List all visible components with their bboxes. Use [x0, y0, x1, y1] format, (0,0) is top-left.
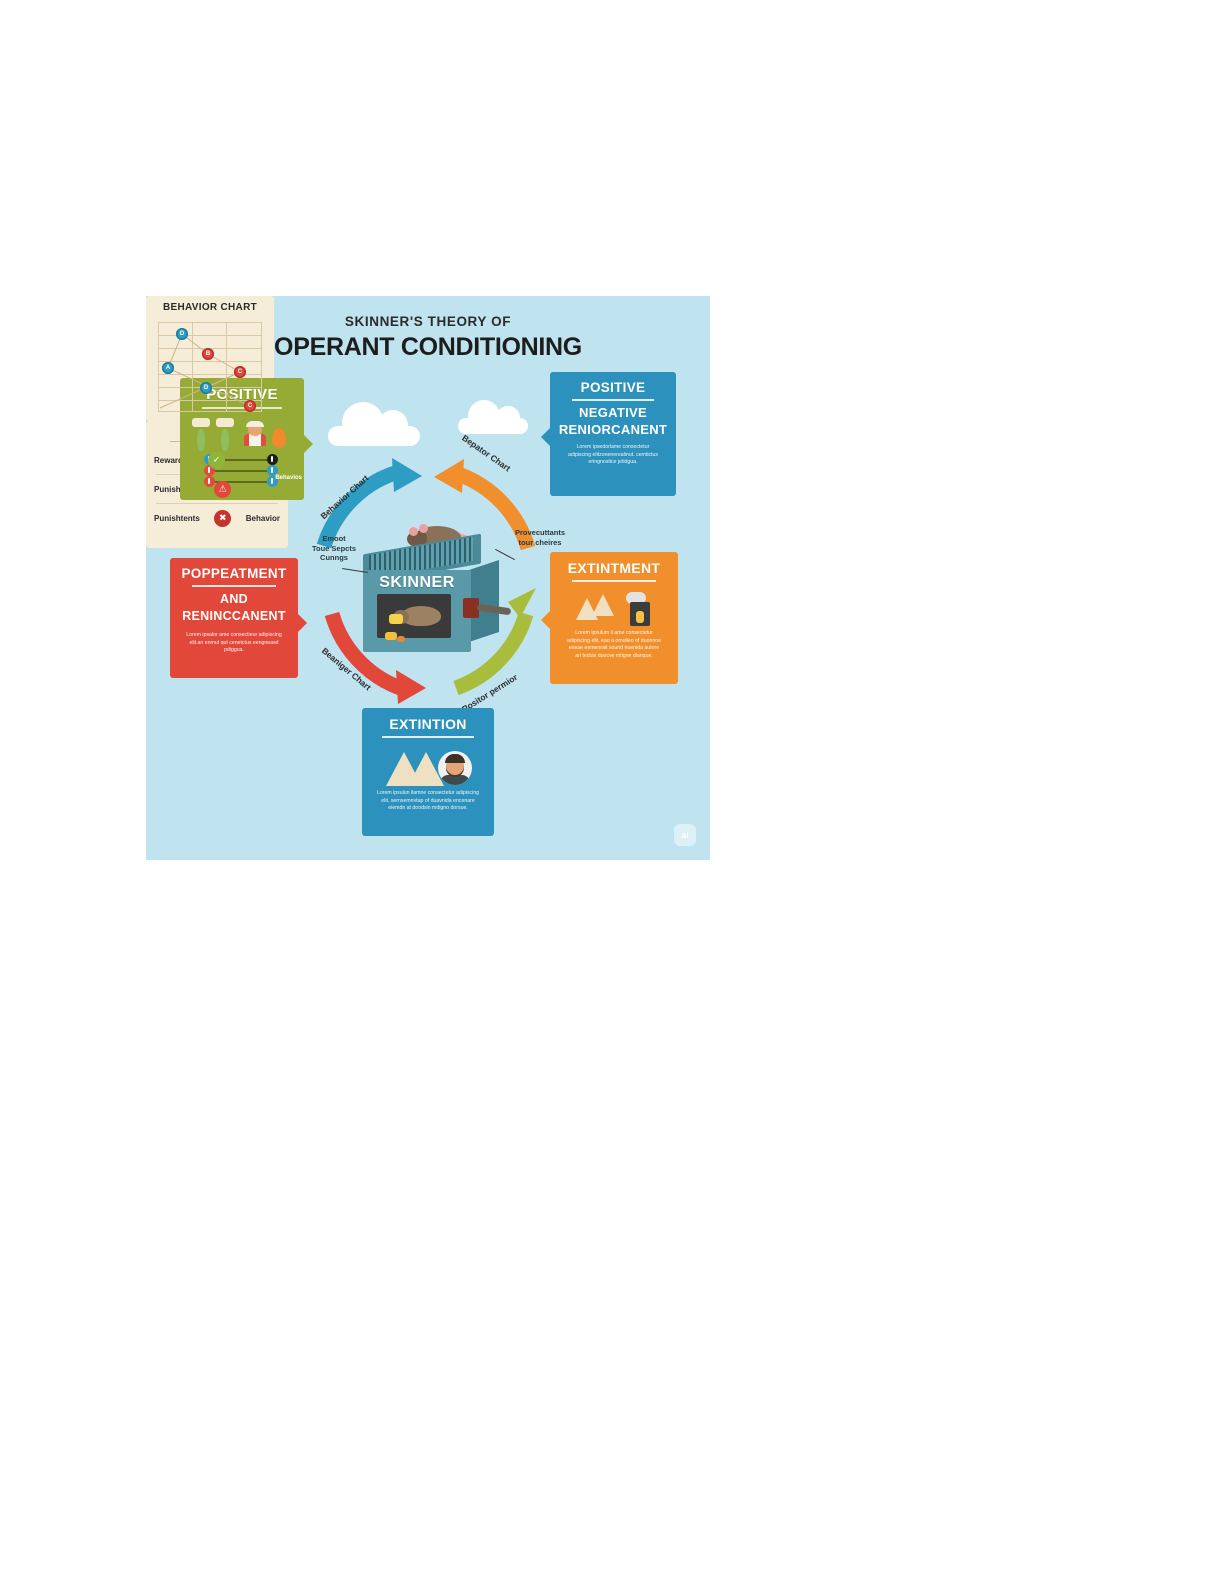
card-red-body: Lorem ipsalor ame consectieur adipiscing… — [178, 632, 290, 655]
legend-row-right: Behavior — [246, 514, 280, 523]
skinner-box-illustration: SKINNER — [351, 530, 511, 662]
card-notch — [541, 610, 551, 630]
card-blue-title: POSITIVE — [558, 380, 668, 395]
card-extinction[interactable]: EXTINTION Lorem ipsulun ilamne consectet… — [362, 708, 494, 836]
card-notch — [297, 613, 307, 633]
leaf-icon — [197, 429, 205, 451]
food-pellet-icon — [385, 632, 397, 640]
divider — [572, 399, 654, 401]
card-blue-subtitle-1: NEGATIVE — [558, 406, 668, 420]
callout-right-line-2: tour cheires — [502, 538, 578, 548]
page-root: SKINNER'S THEORY OF OPERANT CONDITIONING… — [0, 0, 1224, 1584]
card-extinction-orange[interactable]: EXTINTMENT Lorem ipsulum il ame consecte… — [550, 552, 678, 684]
card-blue-subtitle-2: RENIORCANENT — [558, 423, 668, 437]
dot-dark — [267, 454, 278, 465]
green-card-icons — [190, 418, 295, 452]
chart-node[interactable]: C — [244, 400, 256, 412]
food-pellet-icon — [397, 636, 405, 642]
divider — [382, 736, 474, 738]
dot-red — [204, 476, 215, 487]
card-negative-reinforcement[interactable]: POSITIVE NEGATIVE RENIORCANENT Lorem ips… — [550, 372, 676, 496]
speech-bubble-icon — [216, 418, 234, 427]
card-notch — [541, 427, 551, 447]
card-red-title: POPPEATMENT — [178, 566, 290, 581]
arrow-label-behavior-chart: Behavior Chart — [318, 473, 370, 521]
divider — [572, 580, 656, 582]
legend-row[interactable]: Punishtents ✖ Behavior — [154, 504, 280, 532]
divider — [192, 585, 276, 587]
legend-row-left: Punishtents — [154, 514, 200, 523]
card-punishment[interactable]: POPPEATMENT AND RENINCCANENT Lorem ipsal… — [170, 558, 298, 678]
cheese-icon — [389, 614, 403, 624]
callout-right: Provecuttants tour cheires — [502, 528, 578, 547]
leaf-icon — [221, 429, 229, 451]
cloud-icon — [458, 418, 528, 434]
callout-left: Emoot Toue Sepcts Cunngs — [296, 534, 372, 563]
infographic-canvas: SKINNER'S THEORY OF OPERANT CONDITIONING… — [146, 296, 710, 860]
extinction-card-icons — [386, 748, 472, 788]
chart-node[interactable]: A — [162, 362, 174, 374]
avatar — [438, 751, 472, 785]
card-red-subtitle-2: RENINCCANENT — [178, 609, 290, 623]
card-orange-title: EXTINTMENT — [558, 560, 670, 576]
callout-left-line-2: Toue Sepcts — [296, 544, 372, 554]
watermark-badge: ai — [674, 824, 696, 846]
chart-node[interactable]: D — [176, 328, 188, 340]
chart-node[interactable]: C — [234, 366, 246, 378]
extinction-card-title: EXTINTION — [368, 716, 488, 732]
callout-left-line-3: Cunngs — [296, 553, 372, 563]
fireplace-icon — [630, 602, 650, 626]
cloud-icon — [328, 426, 420, 446]
green-card-row-label: Behavios — [275, 475, 302, 481]
card-notch — [303, 434, 313, 454]
arrow-label-bepator-chart: Bepator Chart — [460, 433, 512, 474]
alert-icon: ⚠ — [214, 481, 231, 498]
person-icon — [244, 422, 266, 446]
card-blue-body: Lorem ipsedorlame consectetur adipiscing… — [558, 444, 668, 467]
chart-node[interactable]: D — [200, 382, 212, 394]
mountain-icon — [592, 594, 614, 616]
no-entry-icon: ✖ — [214, 510, 231, 527]
chart-node[interactable]: B — [202, 348, 214, 360]
card-orange-body: Lorem ipsulum il ame consectetur adipisc… — [558, 630, 670, 660]
behavior-chart-title: BEHAVIOR CHART — [152, 302, 268, 313]
card-red-subtitle-1: AND — [178, 592, 290, 606]
skinner-box-label: SKINNER — [363, 574, 471, 592]
callout-right-line-1: Provecuttants — [502, 528, 578, 538]
speech-bubble-icon — [192, 418, 210, 427]
orange-card-icons — [574, 590, 656, 626]
behavior-chart-grid: D B A C D C — [158, 322, 262, 412]
extinction-card-body: Lorem ipsulun ilamne consectetur adipisc… — [368, 790, 488, 813]
flame-icon — [272, 428, 286, 448]
callout-left-line-1: Emoot — [296, 534, 372, 544]
check-icon: ✓ — [208, 452, 225, 469]
